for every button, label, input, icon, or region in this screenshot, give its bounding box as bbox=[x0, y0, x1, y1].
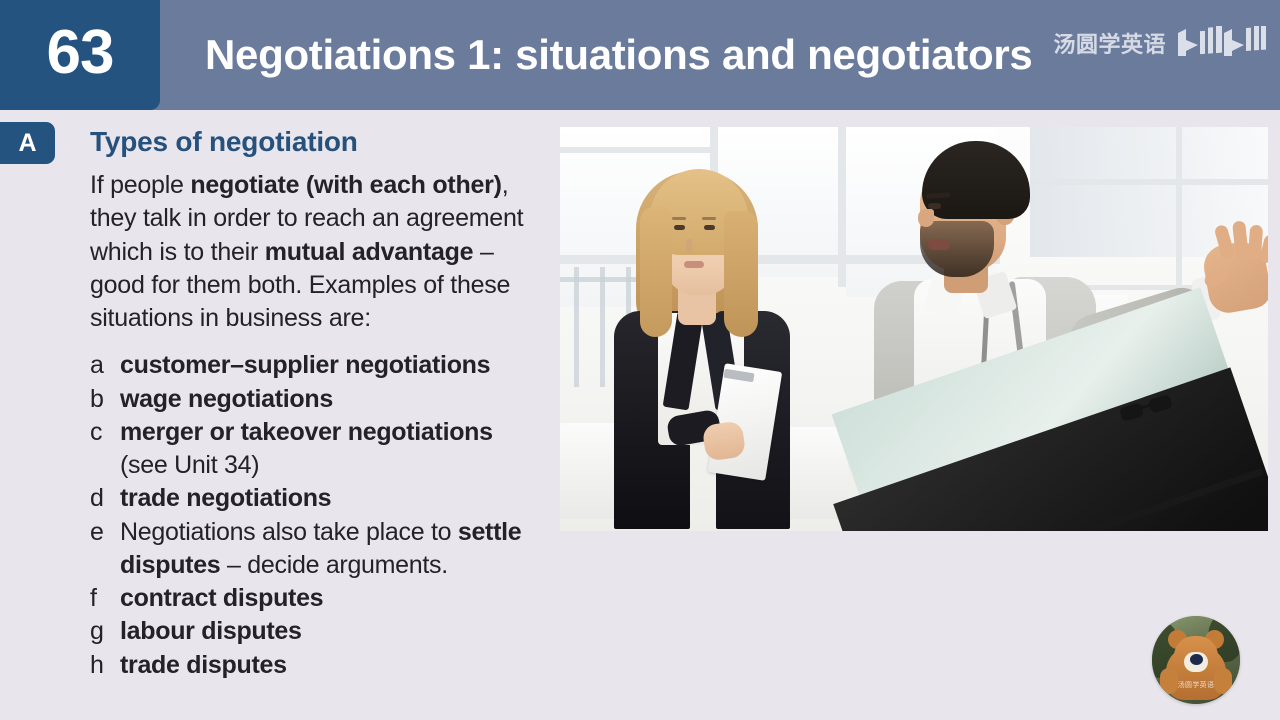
list-item-text: trade disputes bbox=[120, 649, 550, 682]
window-mullion bbox=[560, 147, 710, 153]
list-item: c merger or takeover negotiations bbox=[90, 416, 550, 449]
list-item: h trade disputes bbox=[90, 649, 550, 682]
lesson-photo bbox=[560, 127, 1268, 531]
channel-avatar[interactable]: 汤圆学英语 bbox=[1152, 616, 1240, 704]
list-item-letter: f bbox=[90, 582, 120, 615]
examples-list: a customer–supplier negotiations b wage … bbox=[90, 349, 550, 682]
brand-watermark: 汤圆学英语 bbox=[1053, 26, 1266, 60]
list-item-letter: e bbox=[90, 516, 120, 549]
list-item-text: customer–supplier negotiations bbox=[120, 349, 550, 382]
unit-number: 63 bbox=[47, 22, 114, 88]
woman-nose bbox=[686, 239, 692, 253]
list-item-letter: c bbox=[90, 416, 120, 449]
page-title: Negotiations 1: situations and negotiato… bbox=[205, 0, 1032, 110]
list-item: d trade negotiations bbox=[90, 482, 550, 515]
list-item-bold: labour disputes bbox=[120, 617, 302, 645]
list-item-bold: customer–supplier negotiations bbox=[120, 351, 490, 379]
list-item-rest: – decide arguments. bbox=[220, 551, 447, 579]
photo-scene bbox=[560, 127, 1268, 531]
man-finger bbox=[1232, 220, 1249, 259]
avatar-caption: 汤圆学英语 bbox=[1152, 680, 1240, 690]
person-woman bbox=[612, 161, 842, 531]
list-item: e Negotiations also take place to settle… bbox=[90, 516, 550, 583]
woman-eye-right bbox=[704, 225, 715, 230]
list-item-bold: merger or takeover negotiations bbox=[120, 418, 493, 446]
bilibili-logo-icon bbox=[1174, 26, 1266, 60]
list-item: f contract disputes bbox=[90, 582, 550, 615]
woman-eyebrow-right bbox=[702, 217, 716, 220]
content-column: Types of negotiation If people negotiate… bbox=[90, 126, 550, 682]
railing-post bbox=[600, 267, 605, 387]
list-item-bold: trade negotiations bbox=[120, 484, 331, 512]
para-bold-1: negotiate (with each other) bbox=[190, 171, 501, 199]
list-item: a customer–supplier negotiations bbox=[90, 349, 550, 382]
list-item-bold: wage negotiations bbox=[120, 385, 333, 413]
header-bar: 63 Negotiations 1: situations and negoti… bbox=[0, 0, 1280, 110]
list-item-text: wage negotiations bbox=[120, 383, 550, 416]
list-item-text: contract disputes bbox=[120, 582, 550, 615]
woman-eyebrow-left bbox=[672, 217, 686, 220]
list-item-text: labour disputes bbox=[120, 615, 550, 648]
list-item-bold: contract disputes bbox=[120, 584, 323, 612]
para-bold-2: mutual advantage bbox=[265, 238, 474, 266]
list-item-letter: g bbox=[90, 615, 120, 648]
man-mouth bbox=[928, 239, 950, 250]
slide-page: 63 Negotiations 1: situations and negoti… bbox=[0, 0, 1280, 720]
list-item-letter: a bbox=[90, 349, 120, 382]
woman-hair-side-left bbox=[640, 207, 672, 337]
list-item-text: trade negotiations bbox=[120, 482, 550, 515]
list-item: g labour disputes bbox=[90, 615, 550, 648]
woman-eye-left bbox=[674, 225, 685, 230]
list-item-letter: h bbox=[90, 649, 120, 682]
list-item-text: Negotiations also take place to settle d… bbox=[120, 516, 550, 583]
list-item-bold: trade disputes bbox=[120, 651, 287, 679]
railing-post bbox=[574, 267, 579, 387]
list-item-subnote: (see Unit 34) bbox=[90, 449, 550, 482]
section-title: Types of negotiation bbox=[90, 126, 550, 158]
section-badge-letter: A bbox=[18, 131, 36, 156]
unit-number-badge: 63 bbox=[0, 0, 160, 110]
list-item: b wage negotiations bbox=[90, 383, 550, 416]
woman-hair-side-right bbox=[724, 211, 758, 337]
section-paragraph: If people negotiate (with each other), t… bbox=[90, 169, 550, 335]
woman-lips bbox=[684, 261, 704, 268]
section-badge-a: A bbox=[0, 122, 55, 164]
list-item-letter: d bbox=[90, 482, 120, 515]
man-nose bbox=[918, 209, 934, 227]
list-item-lead: Negotiations also take place to bbox=[120, 518, 458, 546]
para-part-1: If people bbox=[90, 171, 190, 199]
teddy-bear-nose bbox=[1190, 654, 1203, 665]
list-item-text: merger or takeover negotiations bbox=[120, 416, 550, 449]
brand-channel-name: 汤圆学英语 bbox=[1053, 27, 1166, 59]
list-item-letter: b bbox=[90, 383, 120, 416]
